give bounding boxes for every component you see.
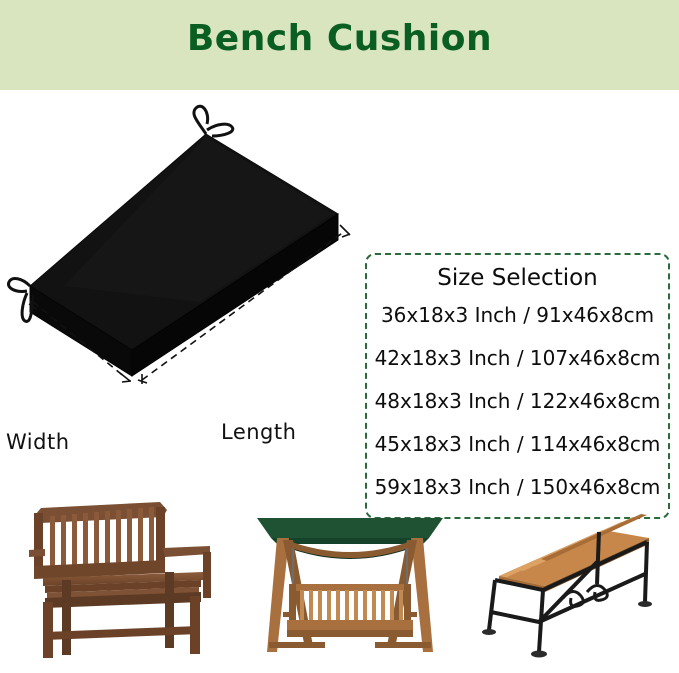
furniture-gallery — [0, 480, 679, 673]
width-dimension-label: Width — [6, 430, 70, 454]
size-option[interactable]: 48x18x3 Inch / 122x46x8cm — [367, 391, 668, 411]
gallery-item-wooden-garden-bench — [5, 480, 235, 673]
cushion-tie-top — [194, 106, 233, 136]
size-options-list: 36x18x3 Inch / 91x46x8cm 42x18x3 Inch / … — [367, 305, 668, 497]
header-band: Bench Cushion — [0, 0, 679, 90]
gallery-item-backless-slat-bench — [463, 480, 675, 673]
swing-canopy — [257, 518, 443, 538]
hero-product-section: Width Length Size Selection 36x18x3 Inch… — [0, 90, 679, 480]
length-dimension-label: Length — [221, 420, 296, 444]
page-title: Bench Cushion — [0, 18, 679, 59]
size-option[interactable]: 45x18x3 Inch / 114x46x8cm — [367, 434, 668, 454]
gallery-item-porch-swing — [243, 480, 458, 673]
size-option[interactable]: 36x18x3 Inch / 91x46x8cm — [367, 305, 668, 325]
size-option[interactable]: 42x18x3 Inch / 107x46x8cm — [367, 348, 668, 368]
size-selection-title: Size Selection — [367, 265, 668, 291]
cushion-body — [30, 134, 338, 376]
bench-cushion-illustration — [0, 90, 370, 410]
cushion-tie-left — [8, 279, 31, 322]
